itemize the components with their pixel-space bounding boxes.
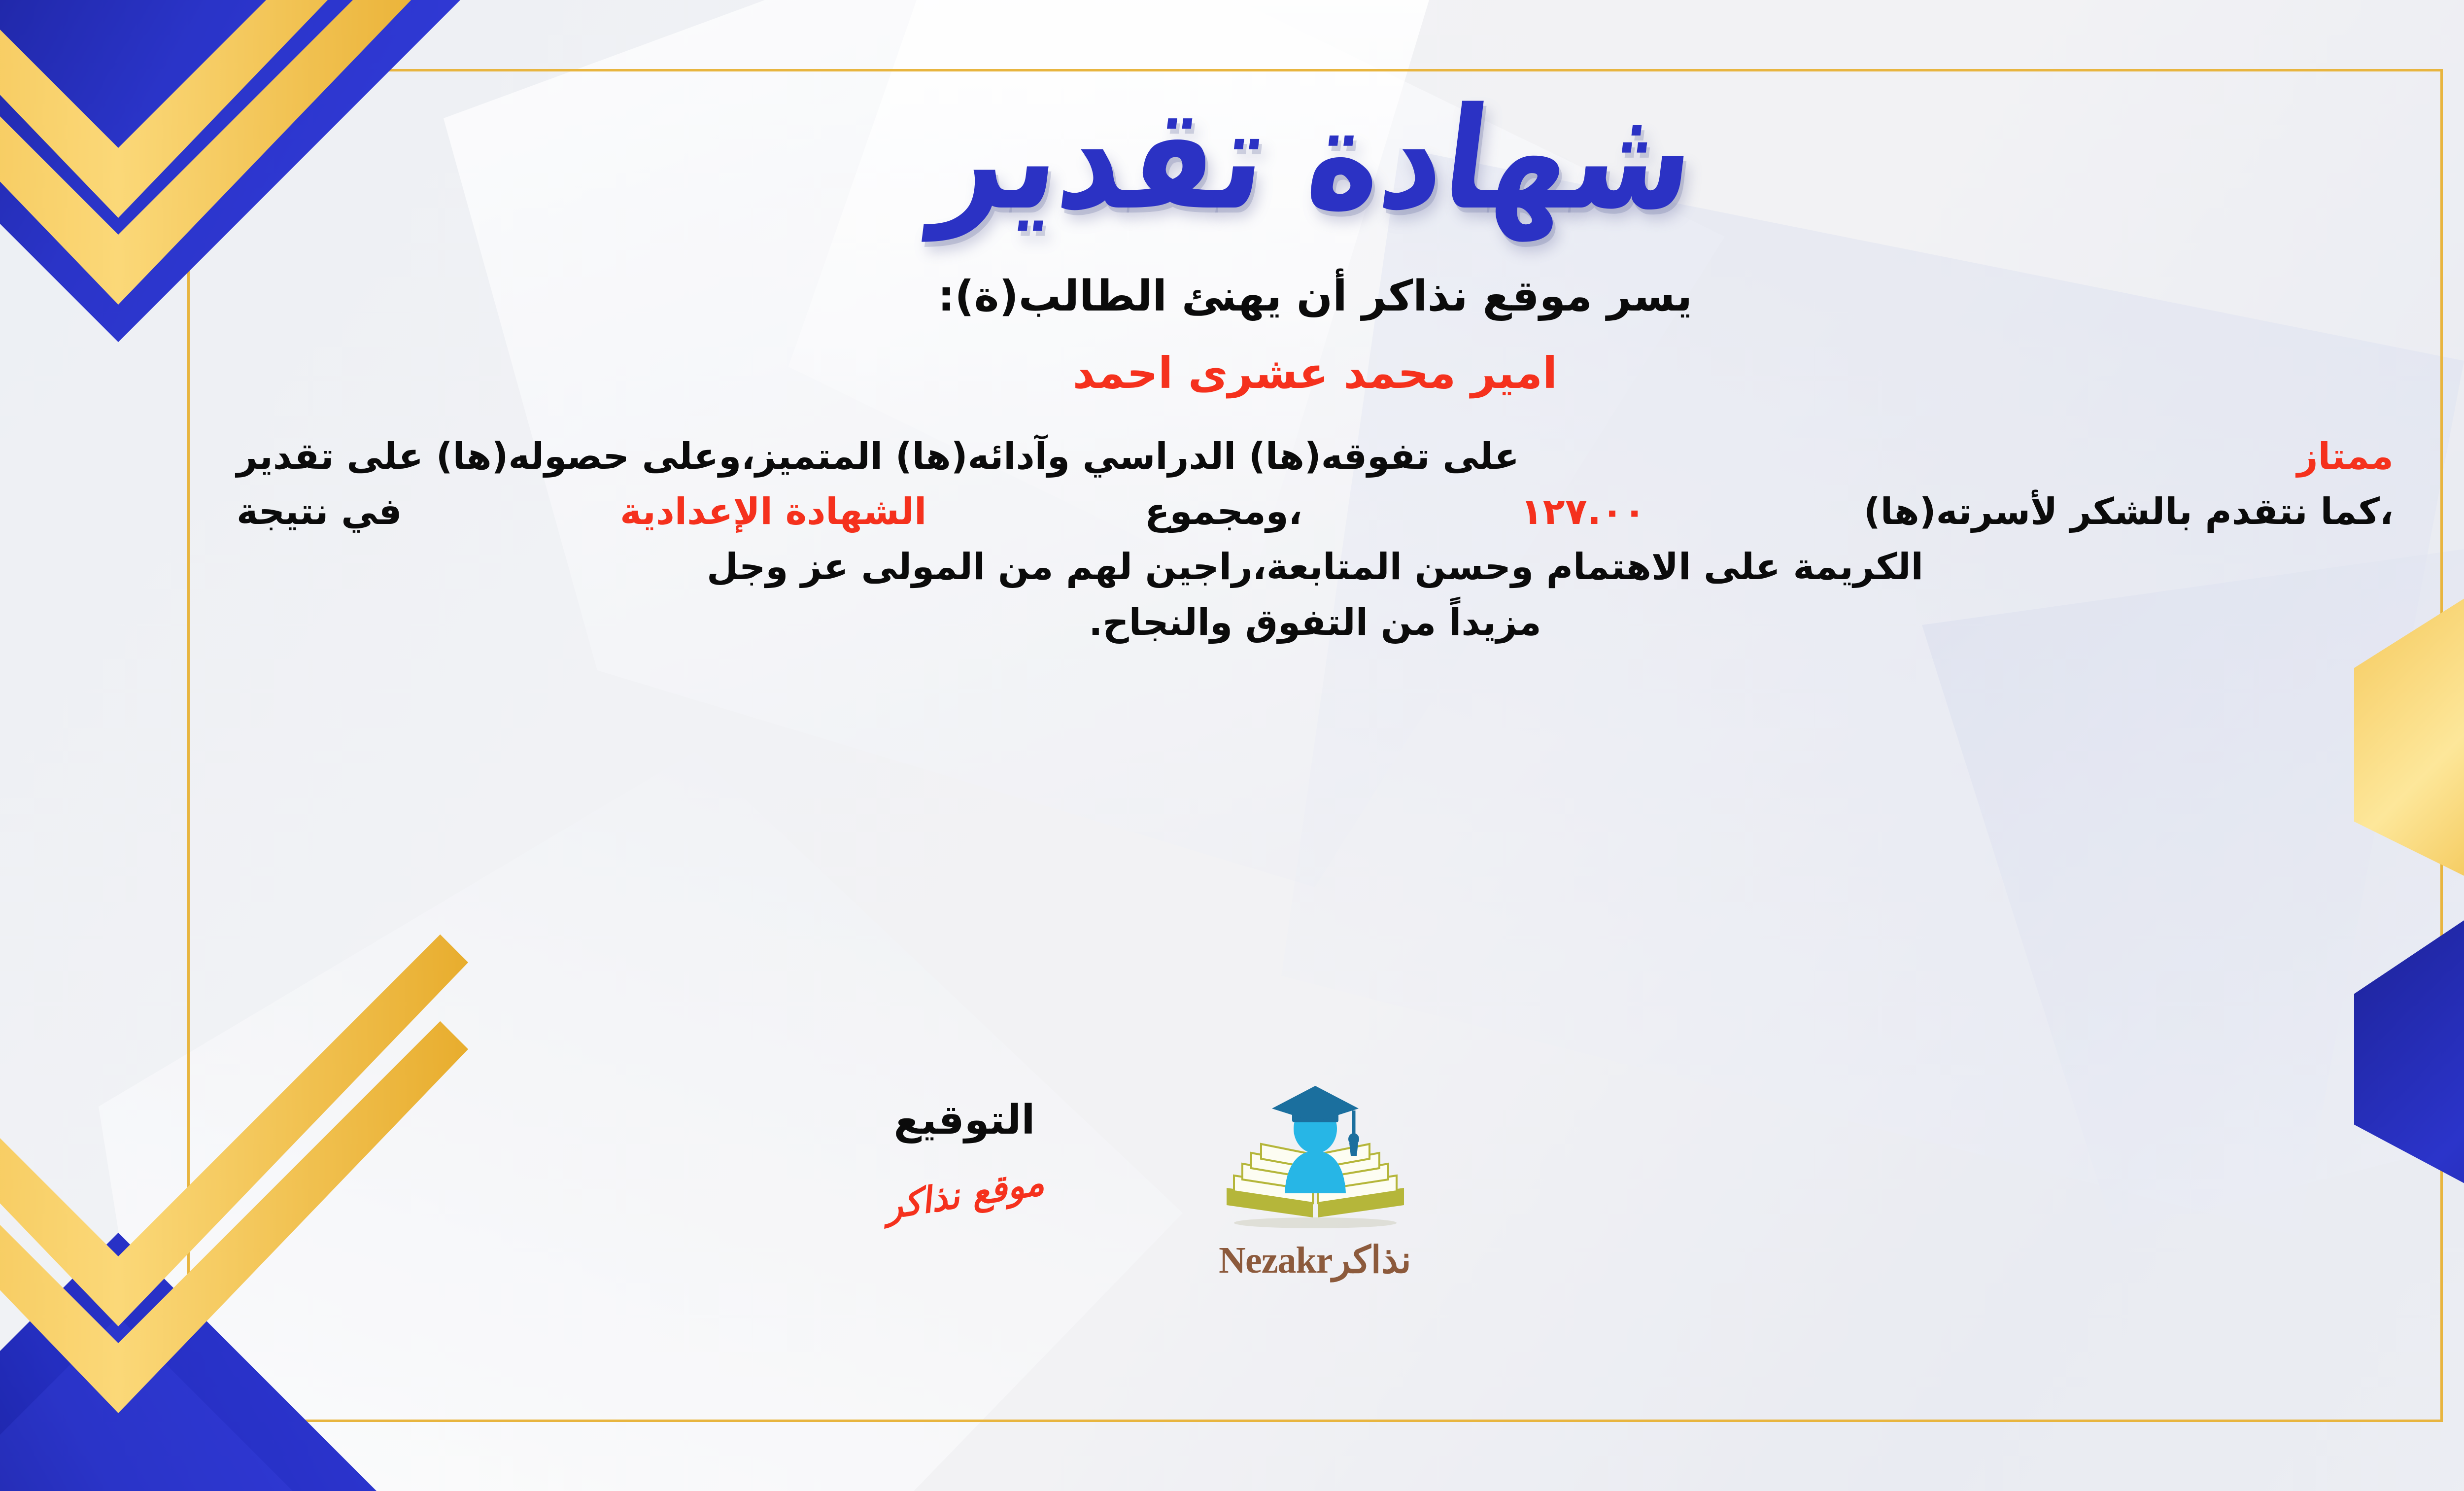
certificate-document: شهادة تقدير يسر موقع نذاكر أن يهنئ الطال… — [0, 0, 2464, 1491]
student-name: امير محمد عشرى احمد — [1073, 347, 1557, 398]
grade-value: ممتاز — [2297, 429, 2394, 484]
certificate-title: شهادة تقدير — [927, 86, 1702, 233]
graduate-book-logo-icon — [1212, 1082, 1419, 1245]
signature-label: التوقيع — [777, 1097, 1152, 1144]
body-line-4: مزيداً من التفوق والنجاح. — [237, 595, 2394, 650]
brand-logo: نذاكرNezakr — [1158, 1082, 1473, 1282]
certificate-footer: التوقيع موقع نذاكر — [207, 1077, 2423, 1392]
exam-name-value: الشهادة الإعدادية — [620, 484, 926, 539]
body-line-3: الكريمة على الاهتمام وحسن المتابعة،راجين… — [237, 539, 2394, 594]
logo-latin-text: Nezakr — [1219, 1240, 1332, 1281]
certificate-body-text: ممتاز على تفوقه(ها) الدراسي وآدائه(ها) ا… — [207, 429, 2423, 651]
total-score-value: ١٢٧.٠٠ — [1520, 484, 1645, 539]
body-line-2-tail: ،كما نتقدم بالشكر لأسرته(ها) — [1864, 484, 2394, 539]
body-line-1-text: على تفوقه(ها) الدراسي وآدائه(ها) المتميز… — [237, 429, 1519, 484]
certificate-content: شهادة تقدير يسر موقع نذاكر أن يهنئ الطال… — [207, 84, 2423, 1407]
signature-area: التوقيع موقع نذاكر — [777, 1097, 1152, 1215]
body-line-1: ممتاز على تفوقه(ها) الدراسي وآدائه(ها) ا… — [237, 429, 2394, 484]
body-line-2-middle: ،ومجموع — [1145, 484, 1302, 539]
congratulation-intro-line: يسر موقع نذاكر أن يهنئ الطالب(ة): — [938, 272, 1692, 321]
logo-arabic-text: نذاكر — [1333, 1240, 1411, 1281]
logo-wordmark: نذاكرNezakr — [1158, 1238, 1473, 1282]
body-line-2-head: في نتيجة — [237, 484, 402, 539]
body-line-2: ،كما نتقدم بالشكر لأسرته(ها) ١٢٧.٠٠ ،ومج… — [237, 484, 2394, 539]
signature-mark: موقع نذاكر — [882, 1161, 1047, 1227]
